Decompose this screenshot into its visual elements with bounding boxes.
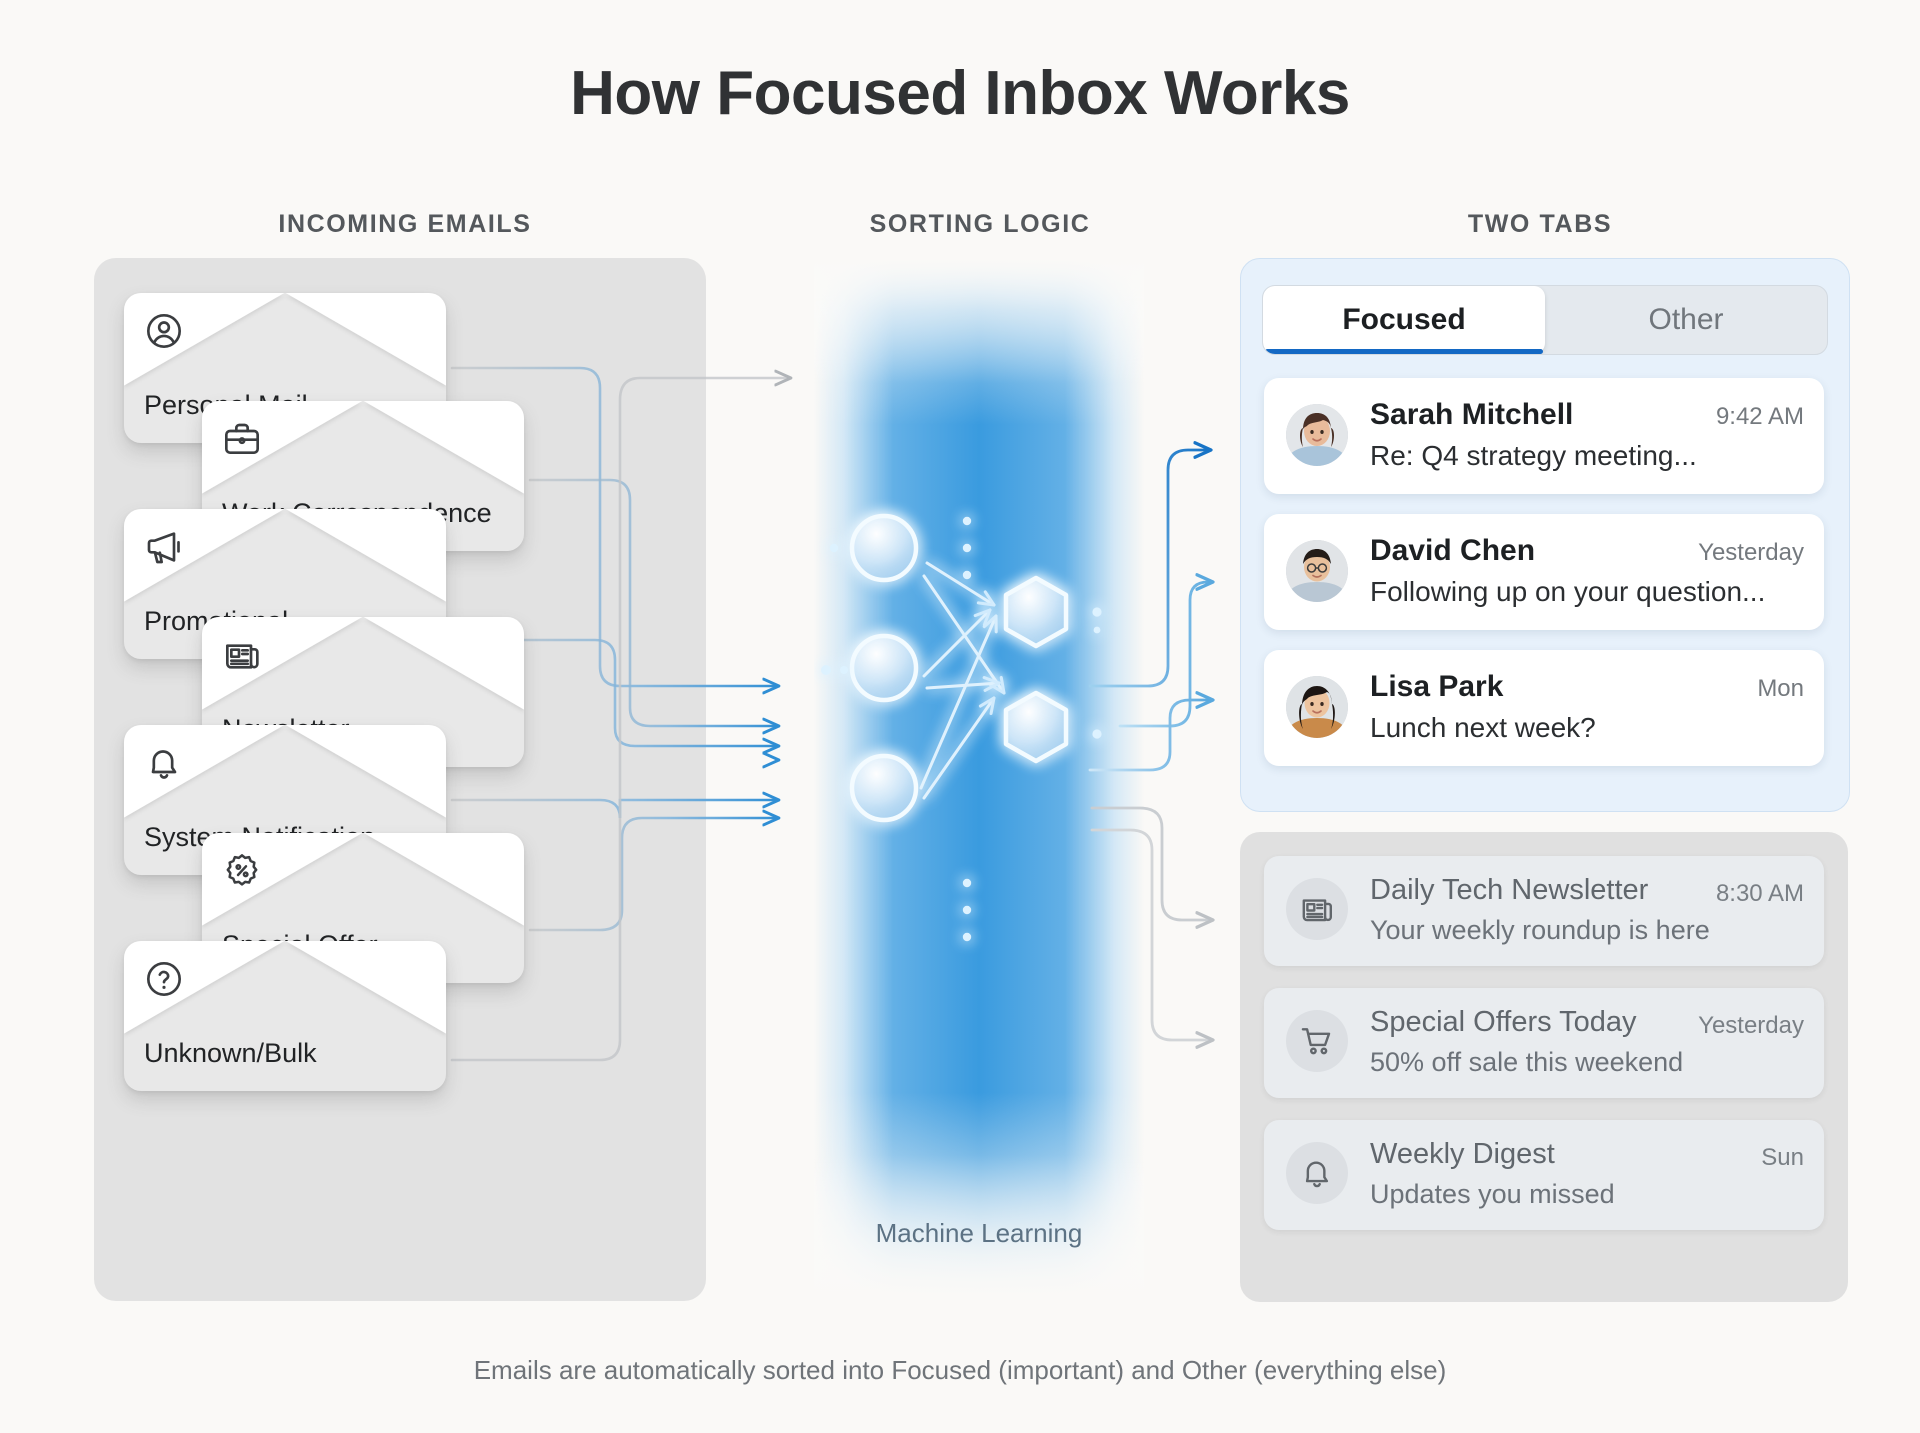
envelope-label: Unknown/Bulk [144, 1038, 317, 1069]
other-mail-row[interactable]: Special Offers Today Yesterday 50% off s… [1264, 988, 1824, 1098]
mail-subject: Updates you missed [1370, 1179, 1615, 1210]
sender-name: David Chen [1370, 534, 1535, 568]
mail-subject: Lunch next week? [1370, 712, 1596, 744]
other-mail-row[interactable]: Daily Tech Newsletter 8:30 AM Your weekl… [1264, 856, 1824, 966]
sender-name: Sarah Mitchell [1370, 398, 1573, 432]
footer-note: Emails are automatically sorted into Foc… [0, 1355, 1920, 1386]
avatar [1286, 404, 1348, 466]
bell-icon [144, 743, 184, 783]
page-title: How Focused Inbox Works [0, 58, 1920, 129]
infographic-canvas: How Focused Inbox Works INCOMING EMAILS … [0, 0, 1920, 1433]
column-caption-sorting: SORTING LOGIC [820, 210, 1140, 239]
person-circle-icon [144, 311, 184, 351]
mail-timestamp: 8:30 AM [1716, 880, 1804, 908]
briefcase-icon [222, 419, 262, 459]
mail-subject: Re: Q4 strategy meeting... [1370, 440, 1697, 472]
avatar [1286, 540, 1348, 602]
mail-subject: Your weekly roundup is here [1370, 915, 1710, 946]
neural-network-graphic [814, 258, 1144, 1301]
sender-name: Lisa Park [1370, 670, 1503, 704]
incoming-envelope[interactable]: Unknown/Bulk [124, 941, 446, 1091]
mail-timestamp: Yesterday [1698, 539, 1804, 567]
mail-timestamp: Sun [1761, 1144, 1804, 1172]
mail-timestamp: 9:42 AM [1716, 403, 1804, 431]
mail-subject: Following up on your question... [1370, 576, 1765, 608]
inbox-tabbar[interactable]: Focused Other [1262, 285, 1828, 355]
mail-subject: 50% off sale this weekend [1370, 1047, 1683, 1078]
bell-icon [1286, 1142, 1348, 1204]
question-circle-icon [144, 959, 184, 999]
focused-mail-row[interactable]: Sarah Mitchell 9:42 AM Re: Q4 strategy m… [1264, 378, 1824, 494]
mail-timestamp: Yesterday [1698, 1012, 1804, 1040]
tab-focused[interactable]: Focused [1263, 286, 1545, 354]
column-caption-incoming: INCOMING EMAILS [95, 210, 715, 239]
sender-name: Daily Tech Newsletter [1370, 874, 1648, 907]
avatar [1286, 676, 1348, 738]
other-mail-row[interactable]: Weekly Digest Sun Updates you missed [1264, 1120, 1824, 1230]
focused-mail-row[interactable]: Lisa Park Mon Lunch next week? [1264, 650, 1824, 766]
column-caption-two-tabs: TWO TABS [1240, 210, 1840, 239]
sender-name: Weekly Digest [1370, 1138, 1555, 1171]
newspaper-icon [1286, 878, 1348, 940]
percent-badge-icon [222, 851, 262, 891]
machine-learning-label: Machine Learning [814, 1218, 1144, 1249]
mail-timestamp: Mon [1757, 675, 1804, 703]
focused-mail-row[interactable]: David Chen Yesterday Following up on you… [1264, 514, 1824, 630]
shopping-cart-icon [1286, 1010, 1348, 1072]
newspaper-icon [222, 635, 262, 675]
tab-other[interactable]: Other [1545, 286, 1827, 354]
sender-name: Special Offers Today [1370, 1006, 1637, 1039]
megaphone-icon [144, 527, 184, 567]
